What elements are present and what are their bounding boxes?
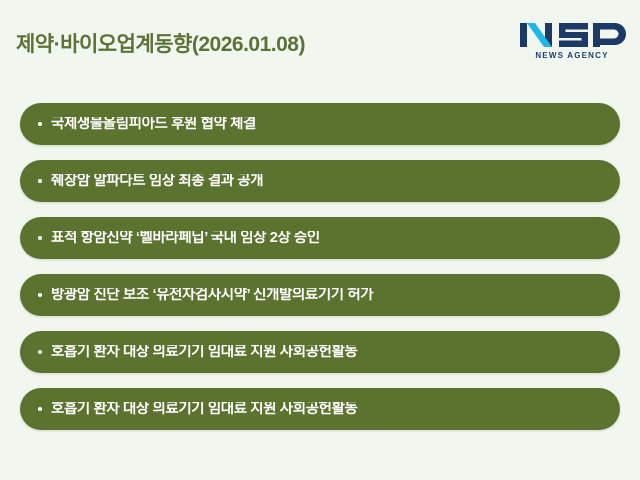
list-item-label: 췌장암 알파다트 임상 최종 결과 공개 [51, 174, 620, 189]
bullet-dot-icon [38, 350, 42, 354]
list-item-label: 호흡기 환자 대상 의료기기 임대료 지원 사회공헌활동 [51, 402, 620, 417]
list-item-label: 호흡기 환자 대상 의료기기 임대료 지원 사회공헌활동 [51, 345, 620, 360]
page-title: 제약·바이오업계동향(2026.01.08) [16, 28, 305, 58]
slide-header: 제약·바이오업계동향(2026.01.08) NEWS AGENCY [0, 0, 640, 92]
bullet-dot-icon [38, 236, 42, 240]
nsp-logo-caption: NEWS AGENCY [518, 51, 626, 60]
list-item[interactable]: 췌장암 알파다트 임상 최종 결과 공개 [20, 160, 620, 202]
list-item-label: 국제생물올림피아드 후원 협약 체결 [51, 117, 620, 132]
nsp-wordmark-icon [518, 20, 626, 50]
list-item-label: 표적 항암신약 ‘벨바라페닙’ 국내 임상 2상 승인 [51, 231, 620, 246]
list-item[interactable]: 국제생물올림피아드 후원 협약 체결 [20, 103, 620, 145]
list-item[interactable]: 호흡기 환자 대상 의료기기 임대료 지원 사회공헌활동 [20, 331, 620, 373]
bullet-dot-icon [38, 179, 42, 183]
bullet-dot-icon [38, 407, 42, 411]
slide-canvas: 제약·바이오업계동향(2026.01.08) NEWS AGENCY 국 [0, 0, 640, 480]
list-item[interactable]: 표적 항암신약 ‘벨바라페닙’ 국내 임상 2상 승인 [20, 217, 620, 259]
bullet-list: 국제생물올림피아드 후원 협약 체결 췌장암 알파다트 임상 최종 결과 공개 … [0, 103, 640, 430]
bullet-dot-icon [38, 122, 42, 126]
nsp-logo: NEWS AGENCY [518, 20, 626, 68]
list-item[interactable]: 방광암 진단 보조 ‘유전자검사시약’ 신개발의료기기 허가 [20, 274, 620, 316]
bullet-dot-icon [38, 293, 42, 297]
list-item-label: 방광암 진단 보조 ‘유전자검사시약’ 신개발의료기기 허가 [51, 288, 620, 303]
list-item[interactable]: 호흡기 환자 대상 의료기기 임대료 지원 사회공헌활동 [20, 388, 620, 430]
